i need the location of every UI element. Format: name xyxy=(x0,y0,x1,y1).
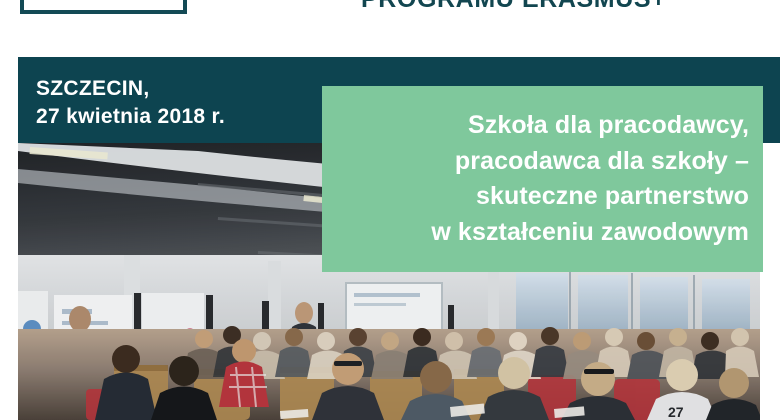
poster-header: PROGRAMU ERASMUS+ xyxy=(0,0,780,57)
logo-frame xyxy=(20,0,187,14)
event-title-line-2: pracodawca dla szkoły – xyxy=(455,144,749,180)
event-date: 27 kwietnia 2018 r. xyxy=(36,103,225,131)
event-title-line-1: Szkoła dla pracodawcy, xyxy=(468,108,749,144)
event-poster: PROGRAMU ERASMUS+ SZCZECIN, 27 kwietnia … xyxy=(0,0,780,420)
event-city: SZCZECIN, xyxy=(36,75,225,103)
program-title: PROGRAMU ERASMUS+ xyxy=(361,0,666,12)
event-title-box: Szkoła dla pracodawcy, pracodawca dla sz… xyxy=(322,86,763,272)
event-title-line-4: w kształceniu zawodowym xyxy=(431,215,749,251)
event-title-line-3: skuteczne partnerstwo xyxy=(476,179,749,215)
event-location-date: SZCZECIN, 27 kwietnia 2018 r. xyxy=(36,75,225,131)
